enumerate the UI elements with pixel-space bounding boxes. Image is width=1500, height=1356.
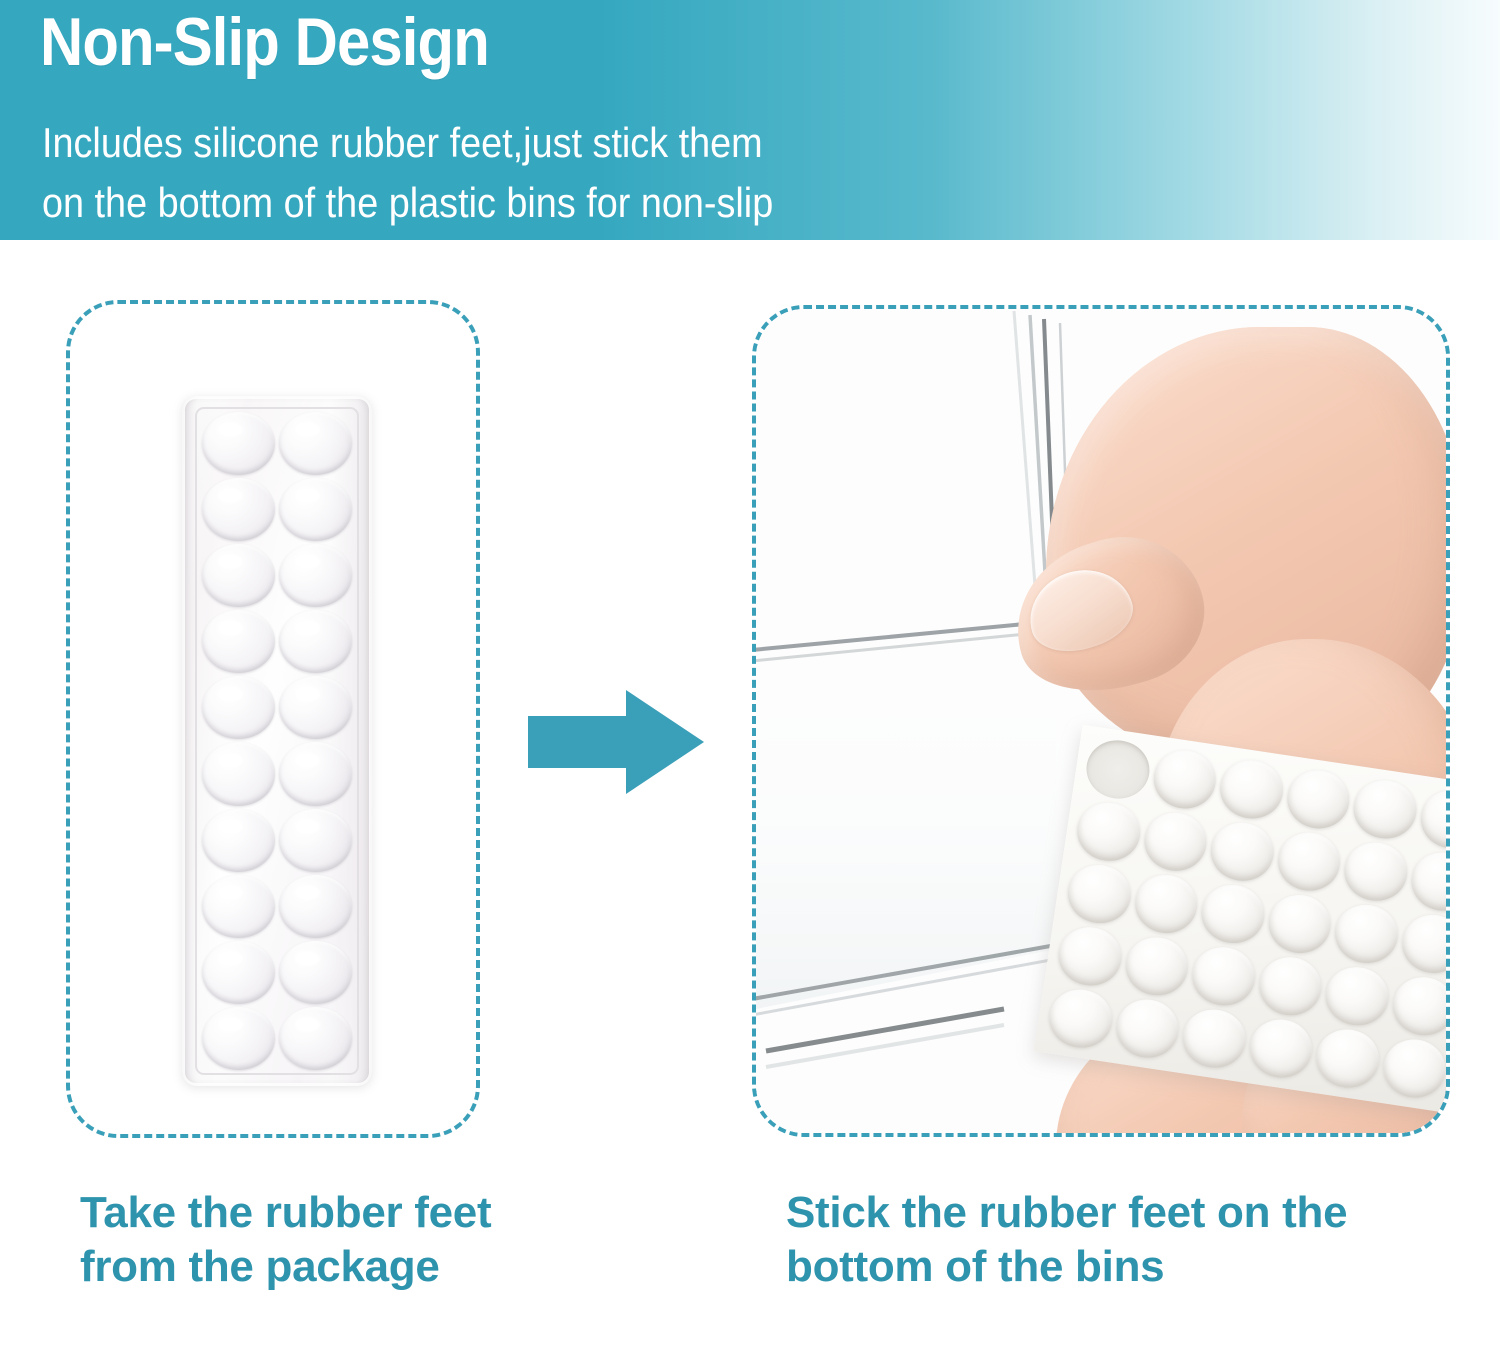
rubber-foot-dot: [1407, 848, 1450, 915]
silicone-dome: [279, 941, 352, 1004]
header-banner: Non-Slip Design Includes silicone rubber…: [0, 0, 1500, 240]
rubber-foot-dot: [1255, 953, 1325, 1020]
rubber-foot-dot: [1340, 838, 1410, 905]
step-2-caption: Stick the rubber feet on the bottom of t…: [786, 1186, 1466, 1293]
rubber-foot-dot: [1197, 881, 1267, 948]
silicone-dome: [279, 544, 352, 607]
rubber-feet-dot-grid: [1045, 736, 1450, 1102]
silicone-dome-grid: [202, 412, 352, 1070]
silicone-dome: [279, 1007, 352, 1070]
silicone-dome: [202, 742, 275, 805]
silicone-dome: [202, 875, 275, 938]
page-subtitle-line-1: Includes silicone rubber feet,just stick…: [42, 113, 773, 173]
silicone-dome: [279, 412, 352, 475]
silicone-dome: [279, 875, 352, 938]
silicone-dome: [202, 941, 275, 1004]
rubber-foot-dot: [1131, 871, 1201, 938]
rubber-foot-dot: [1283, 766, 1353, 833]
rubber-foot-dot: [1331, 901, 1401, 968]
rubber-foot-dot: [1140, 808, 1210, 875]
silicone-dome: [279, 676, 352, 739]
silicone-dome: [279, 478, 352, 541]
page-subtitle: Includes silicone rubber feet,just stick…: [42, 113, 773, 232]
silicone-dome: [202, 478, 275, 541]
silicone-dome: [202, 809, 275, 872]
step-1-image-card: [66, 300, 480, 1138]
silicone-dome: [202, 610, 275, 673]
rubber-foot-dot: [1398, 911, 1450, 978]
rubber-foot-dot: [1149, 746, 1219, 813]
step-arrow-right-icon: [528, 690, 704, 794]
step-1-caption: Take the rubber feet from the package: [80, 1186, 510, 1293]
rubber-foot-dot: [1350, 776, 1420, 843]
rubber-foot-dot: [1216, 756, 1286, 823]
rubber-foot-dot: [1379, 1035, 1449, 1102]
rubber-foot-dot: [1388, 973, 1450, 1040]
rubber-foot-dot: [1322, 963, 1392, 1030]
silicone-dome: [202, 544, 275, 607]
rubber-foot-dot: [1312, 1025, 1382, 1092]
rubber-foot-dot: [1188, 943, 1258, 1010]
rubber-foot-dot: [1055, 923, 1125, 990]
silicone-dome: [202, 1007, 275, 1070]
rubber-foot-dot: [1416, 786, 1450, 853]
page-subtitle-line-2: on the bottom of the plastic bins for no…: [42, 173, 773, 233]
rubber-foot-dot: [1264, 891, 1334, 958]
rubber-feet-blister-strip-figure: [70, 304, 476, 1134]
rubber-foot-dot: [1179, 1005, 1249, 1072]
silicone-dome: [279, 809, 352, 872]
rubber-foot-dot: [1246, 1015, 1316, 1082]
rubber-feet-sheet: [1034, 725, 1450, 1113]
step-2-image-card: [752, 305, 1450, 1137]
rubber-foot-dot: [1207, 818, 1277, 885]
silicone-dome: [202, 412, 275, 475]
silicone-dome: [279, 742, 352, 805]
hand-sticking-foot-figure: [756, 309, 1446, 1133]
rubber-foot-dot: [1064, 861, 1134, 928]
rubber-foot-dot: [1083, 736, 1153, 803]
rubber-foot-dot: [1121, 933, 1191, 1000]
silicone-dome: [279, 610, 352, 673]
rubber-foot-dot: [1073, 798, 1143, 865]
page-title: Non-Slip Design: [40, 6, 489, 79]
silicone-dome: [202, 676, 275, 739]
rubber-foot-dot: [1045, 985, 1115, 1052]
rubber-foot-dot: [1112, 995, 1182, 1062]
blister-pack-strip: [182, 396, 372, 1086]
rubber-foot-dot: [1273, 828, 1343, 895]
